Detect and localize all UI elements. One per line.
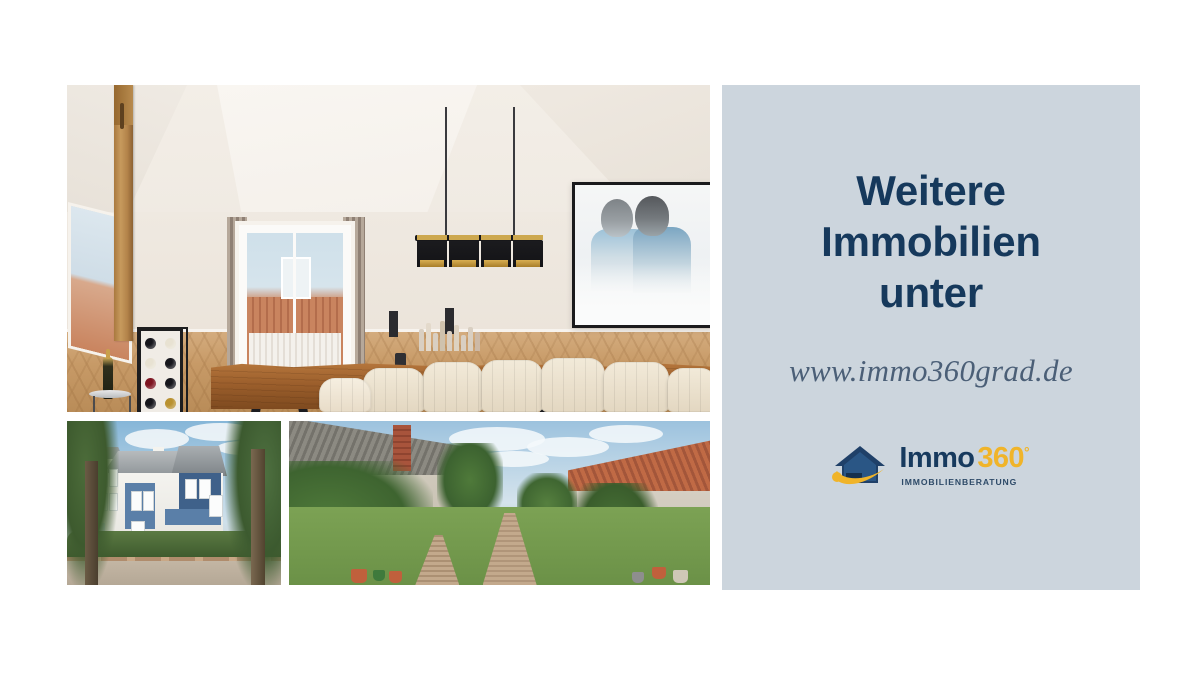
wine-bottle <box>145 358 156 369</box>
wine-rack-row <box>141 333 180 353</box>
wine-rack-row <box>141 393 180 412</box>
brand-name-primary: Immo <box>899 444 974 473</box>
brand-name-secondary: 360 <box>977 444 1024 473</box>
bottle-cluster <box>419 317 491 351</box>
pendant-lamp <box>481 241 511 267</box>
wine-bottle <box>145 338 156 349</box>
headline-line-3: unter <box>766 267 1096 318</box>
artwork-figure-head <box>601 199 633 237</box>
pendant-lamp <box>417 241 447 267</box>
pendant-lamp <box>449 241 479 267</box>
lamp-canopy <box>417 235 447 240</box>
artwork-mist <box>575 263 710 325</box>
wine-rack <box>138 328 183 412</box>
artwork-figure-head <box>635 196 669 236</box>
photo-villa-exterior[interactable] <box>67 421 281 585</box>
wine-bottle <box>165 358 176 369</box>
lamp-canopy <box>481 235 511 240</box>
brand-wordmark: Immo 360 ° IMMOBILIENBERATUNG <box>899 444 1029 487</box>
pendant-lamp <box>513 241 543 267</box>
wine-rack-row <box>141 353 180 373</box>
wine-bottle <box>165 378 176 389</box>
photo-interior-dining-room[interactable] <box>67 85 710 412</box>
wine-bottle <box>165 338 176 349</box>
dining-chair <box>481 360 543 412</box>
lamp-cord <box>445 107 447 235</box>
dining-chair <box>423 362 483 412</box>
website-url[interactable]: www.immo360grad.de <box>789 353 1073 389</box>
photo-collage <box>67 85 710 585</box>
degree-symbol-icon: ° <box>1024 445 1030 459</box>
lamp-cord <box>513 107 515 235</box>
side-table-legs <box>93 396 131 412</box>
wine-bottle <box>165 398 176 409</box>
headline-line-2: Immobilien <box>766 216 1096 267</box>
neighbour-window <box>281 257 311 299</box>
banner-root: Weitere Immobilien unter www.immo360grad… <box>0 0 1200 675</box>
dining-chair <box>603 362 669 412</box>
wine-bottle <box>145 398 156 409</box>
photo-courtyard-garden[interactable] <box>289 421 710 585</box>
dining-chair <box>541 358 605 412</box>
radiator <box>249 333 341 367</box>
lamp-canopy <box>449 235 479 240</box>
brand-tagline: IMMOBILIENBERATUNG <box>901 478 1017 487</box>
wine-rack-row <box>141 373 180 393</box>
courtyard-scene <box>289 421 710 585</box>
brand-logo[interactable]: Immo 360 ° IMMOBILIENBERATUNG <box>832 443 1029 489</box>
dining-chair <box>319 378 371 412</box>
tree-trunk-right <box>251 449 265 585</box>
speaker <box>389 311 398 337</box>
house-swoosh-logo-icon <box>832 443 888 489</box>
headline-line-1: Weitere <box>766 165 1096 216</box>
dining-chair <box>363 368 425 412</box>
beam-knot <box>120 103 124 129</box>
wine-bottle <box>145 378 156 389</box>
tree-trunk-left <box>85 461 98 585</box>
interior-scene <box>67 85 710 412</box>
villa-scene <box>67 421 281 585</box>
info-panel: Weitere Immobilien unter www.immo360grad… <box>722 85 1140 590</box>
page-title: Weitere Immobilien unter <box>766 165 1096 319</box>
lamp-canopy <box>513 235 543 240</box>
framed-artwork <box>572 182 710 328</box>
villa-roof <box>171 446 227 476</box>
dining-chair <box>667 368 710 412</box>
